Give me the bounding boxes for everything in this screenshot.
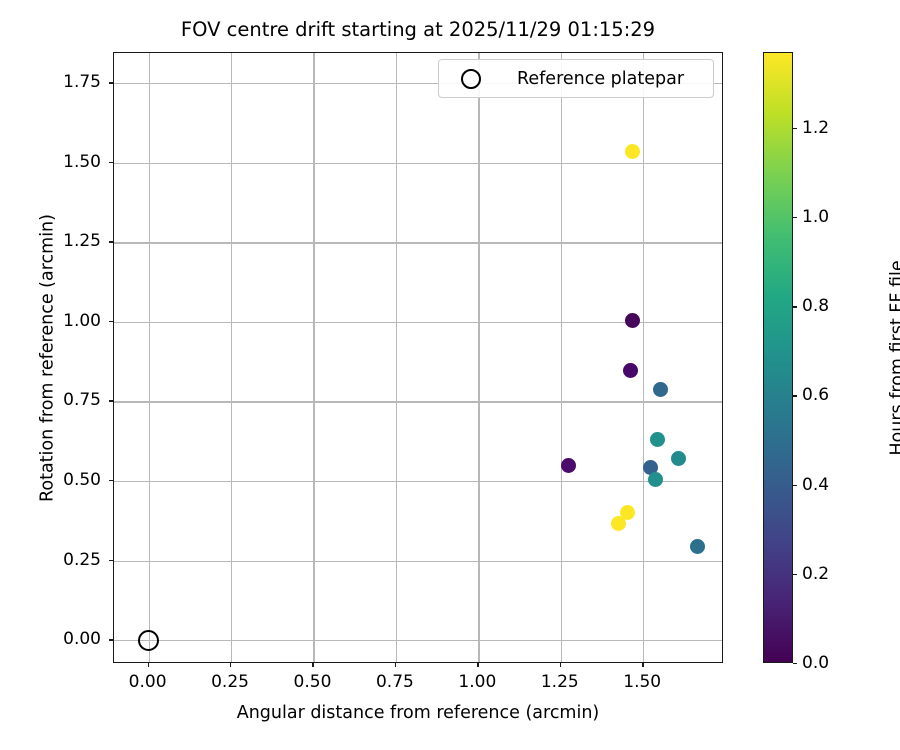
gridline-vertical [561,53,562,662]
gridline-vertical [149,53,150,662]
x-axis-label: Angular distance from reference (arcmin) [113,703,723,723]
colorbar-tick [793,663,797,664]
scatter-point[interactable] [611,516,626,531]
colorbar-tick [793,306,797,307]
scatter-point[interactable] [671,451,686,466]
scatter-point[interactable] [625,144,640,159]
x-axis-tick [642,663,643,667]
y-axis-tick-label: 1.25 [31,231,101,251]
x-axis-tick-label: 0.00 [113,672,183,692]
y-axis-tick-label: 0.00 [31,629,101,649]
colorbar-gradient [763,52,793,663]
colorbar-tick [793,217,797,218]
scatter-point[interactable] [653,382,668,397]
plot-area[interactable] [113,52,723,663]
x-axis-tick [477,663,478,667]
legend-reference-marker-icon [461,69,481,89]
colorbar-tick [793,485,797,486]
colorbar-tick-label: 0.8 [802,296,829,316]
colorbar-tick [793,128,797,129]
y-axis-tick [109,560,113,561]
y-axis-tick [109,639,113,640]
gridline-horizontal [114,640,722,641]
y-axis-tick [109,82,113,83]
colorbar-tick [793,395,797,396]
colorbar-tick-label: 0.4 [802,475,829,495]
x-axis-tick-label: 0.50 [277,672,347,692]
legend[interactable]: Reference platepar [438,59,714,98]
scatter-point[interactable] [650,432,665,447]
scatter-point[interactable] [648,472,663,487]
x-axis-tick [230,663,231,667]
scatter-point[interactable] [623,363,638,378]
colorbar-tick-label: 1.0 [802,207,829,227]
colorbar-tick-label: 0.0 [802,653,829,673]
reference-platepar-marker[interactable] [138,630,159,651]
gridline-horizontal [114,561,722,562]
y-axis-tick [109,480,113,481]
x-axis-tick-label: 0.75 [360,672,430,692]
x-axis-tick [560,663,561,667]
y-axis-tick-label: 0.25 [31,550,101,570]
x-axis-tick-label: 0.25 [195,672,265,692]
colorbar-label: Hours from first FF file [888,53,900,664]
y-axis-tick-label: 1.00 [31,311,101,331]
x-axis-tick-label: 1.25 [525,672,595,692]
gridline-horizontal [114,163,722,164]
gridline-vertical [396,53,397,662]
y-axis-tick [109,400,113,401]
y-axis-tick-label: 1.50 [31,152,101,172]
scatter-point[interactable] [690,539,705,554]
gridline-vertical [231,53,232,662]
colorbar[interactable]: 0.00.20.40.60.81.01.2 [763,52,793,663]
gridline-vertical [643,53,644,662]
x-axis-tick-label: 1.00 [442,672,512,692]
gridline-horizontal [114,242,722,243]
colorbar-tick [793,574,797,575]
gridline-vertical [478,53,479,662]
legend-item-label: Reference platepar [517,69,684,89]
y-axis-tick-label: 0.75 [31,390,101,410]
y-axis-tick [109,241,113,242]
x-axis-tick [312,663,313,667]
x-axis-tick-label: 1.50 [607,672,677,692]
y-axis-tick-label: 1.75 [31,72,101,92]
colorbar-tick-label: 1.2 [802,118,829,138]
page-title: FOV centre drift starting at 2025/11/29 … [113,18,723,42]
gridline-horizontal [114,481,722,482]
gridline-horizontal [114,401,722,402]
y-axis-tick [109,162,113,163]
scatter-point[interactable] [561,458,576,473]
y-axis-tick-label: 0.50 [31,470,101,490]
y-axis-label: Rotation from reference (arcmin) [38,53,58,664]
gridline-vertical [313,53,314,662]
x-axis-tick [395,663,396,667]
colorbar-tick-label: 0.6 [802,385,829,405]
scatter-point[interactable] [625,313,640,328]
colorbar-tick-label: 0.2 [802,564,829,584]
x-axis-tick [148,663,149,667]
figure-canvas: FOV centre drift starting at 2025/11/29 … [0,0,900,750]
y-axis-tick [109,321,113,322]
